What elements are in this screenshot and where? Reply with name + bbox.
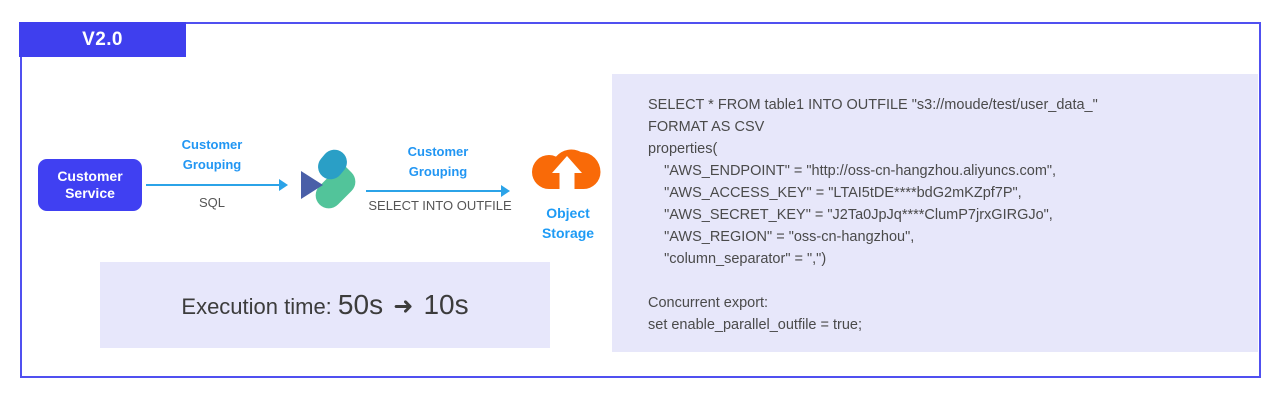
customer-service-node: Customer Service [38,159,142,211]
sql-code-panel: SELECT * FROM table1 INTO OUTFILE "s3://… [612,74,1258,352]
code-line: properties( [648,138,1258,160]
cloud-upload-icon [531,146,603,201]
code-line: "AWS_REGION" = "oss-cn-hangzhou", [648,226,1258,248]
arrow2-caption-top-line2: Grouping [370,162,506,182]
version-badge-label: V2.0 [82,29,123,51]
arrow-shaft [366,190,501,192]
code-line: Concurrent export: [648,292,1258,314]
customer-service-line1: Customer [57,168,122,186]
code-line: "AWS_ACCESS_KEY" = "LTAI5tDE****bdG2mKZp… [648,182,1258,204]
code-line: "AWS_SECRET_KEY" = "J2Ta0JpJq****ClumP7j… [648,204,1258,226]
arrow2-caption-bottom: SELECT INTO OUTFILE [352,198,528,213]
arrow-right-icon-1 [146,179,288,191]
arrow-right-icon-2 [366,185,510,197]
object-storage-line2: Storage [520,223,616,243]
code-line: set enable_parallel_outfile = true; [648,314,1258,336]
arrow1-caption-bottom: SQL [148,195,276,210]
arrow-shaft [146,184,279,186]
diagram-canvas: V2.0 Customer Service Customer Grouping … [0,0,1280,402]
execution-time-label: Execution time: [181,294,331,319]
code-line-blank [648,270,1258,292]
customer-service-line2: Service [65,185,115,203]
arrow-head [279,179,288,191]
arrow1-caption-top-line1: Customer [148,135,276,155]
code-line: SELECT * FROM table1 INTO OUTFILE "s3://… [648,94,1258,116]
code-line: FORMAT AS CSV [648,116,1258,138]
execution-time-arrow-icon: ➜ [389,293,417,320]
arrow1-caption-top-line2: Grouping [148,155,276,175]
arrow2-caption-top-line1: Customer [370,142,506,162]
arrow1-caption-top: Customer Grouping [148,135,276,175]
execution-time-text: Execution time: 50s ➜ 10s [181,289,468,321]
execution-time-before: 50s [338,289,383,320]
object-storage-label: Object Storage [520,203,616,244]
object-storage-line1: Object [520,203,616,223]
version-badge: V2.0 [19,22,186,57]
code-line: "AWS_ENDPOINT" = "http://oss-cn-hangzhou… [648,160,1258,182]
code-line: "column_separator" = ",") [648,248,1258,270]
execution-time-after: 10s [423,289,468,320]
arrow2-caption-top: Customer Grouping [370,142,506,182]
arrow-head [501,185,510,197]
execution-time-panel: Execution time: 50s ➜ 10s [100,262,550,348]
